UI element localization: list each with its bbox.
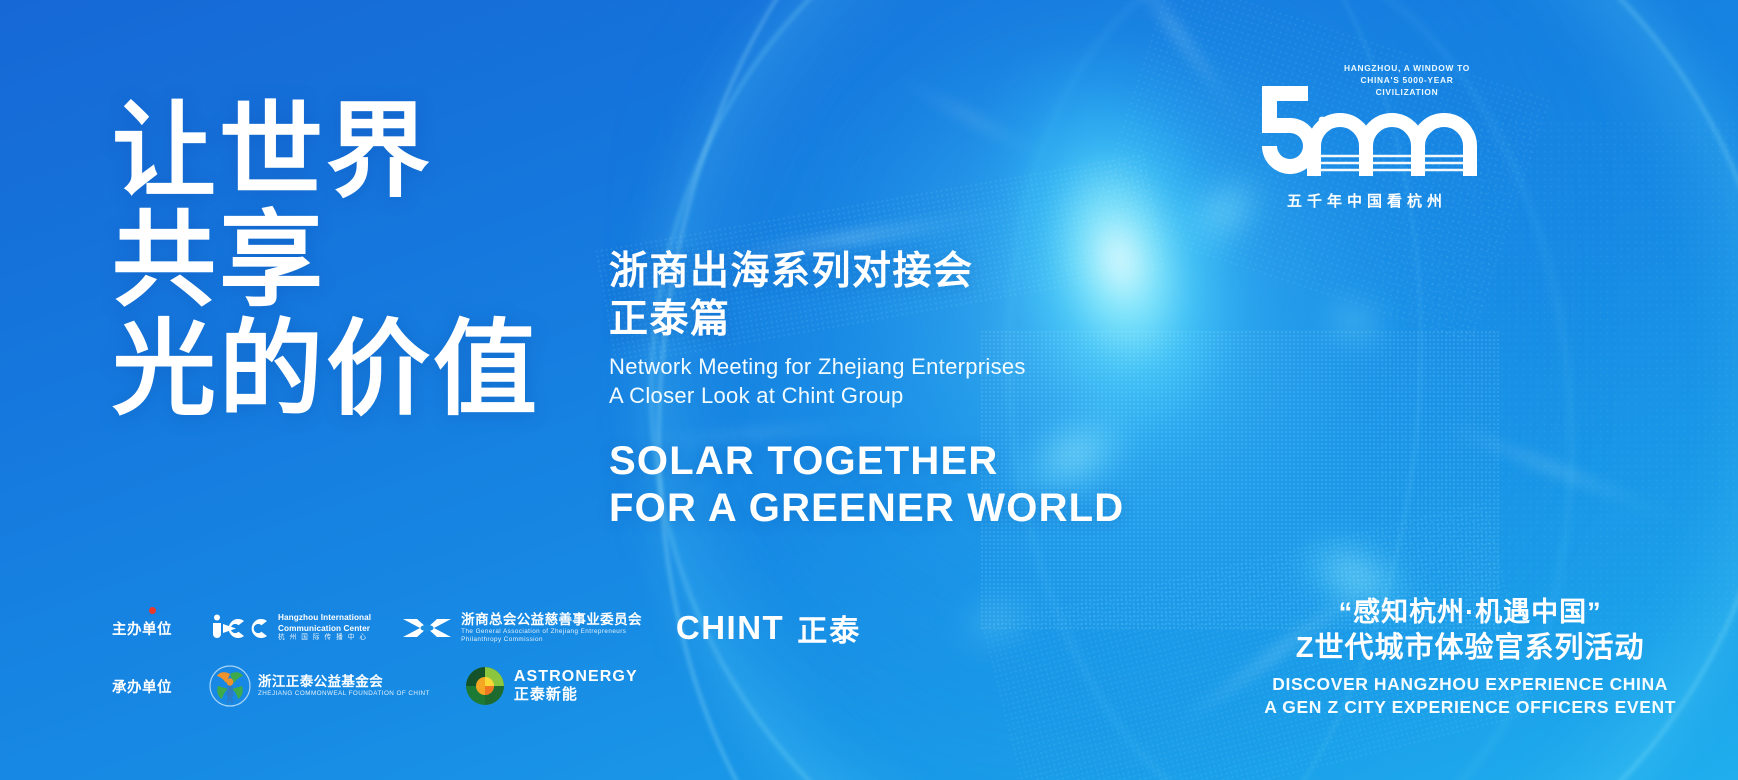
coorganizer-label: 承办单位: [112, 676, 186, 697]
astronergy-sphere-icon: [464, 665, 506, 707]
headline-line-1: 让世界: [112, 98, 540, 207]
astronergy-cn: 正泰新能: [514, 686, 638, 704]
subtitle-cn-line-1: 浙商出海系列对接会: [609, 248, 1124, 296]
coorganizer-row: 承办单位 浙江正泰公益基金会 ZHEJIANG COMMONWEAL FOUND…: [112, 664, 861, 708]
chint-cn: 正泰: [797, 606, 861, 650]
campaign-cn-line-1: “感知杭州·机遇中国”: [1264, 595, 1676, 630]
sponsor-zhejiang-entrepreneurs: 浙商总会公益慈善事业委员会 The General Association of…: [401, 612, 642, 645]
light-streak-6: [891, 73, 1070, 171]
hangzhou-5000-logo: HANGZHOU, A WINDOW TO CHINA'S 5000-YEAR …: [1252, 62, 1482, 207]
icc-en-line-2: Communication Center: [278, 624, 371, 635]
light-streak-2: [1109, 0, 1261, 146]
logo-cn-tagline: 五千年中国看杭州: [1252, 190, 1482, 211]
sponsor-chint-foundation: 浙江正泰公益基金会 ZHEJIANG COMMONWEAL FOUNDATION…: [208, 664, 430, 708]
light-streak-5: [1429, 416, 1700, 530]
logo-tagline-line-1: HANGZHOU, A WINDOW TO: [1332, 62, 1482, 74]
campaign-en-line-1: DISCOVER HANGZHOU EXPERIENCE CHINA: [1264, 673, 1676, 697]
subtitle-en-line-2: A Closer Look at Chint Group: [609, 381, 1124, 410]
zje-en-line-1: The General Association of Zhejiang Entr…: [461, 628, 642, 636]
icc-logo-icon: [208, 613, 270, 643]
chint-red-dot-icon: [149, 607, 156, 614]
chint-en: CHINT: [676, 609, 784, 647]
zje-en-line-2: Philanthropy Commission: [461, 636, 642, 644]
subtitle-block: 浙商出海系列对接会 正泰篇 Network Meeting for Zhejia…: [609, 248, 1124, 533]
headline-line-3: 光的价值: [112, 316, 540, 425]
sponsor-icc: Hangzhou International Communication Cen…: [208, 613, 371, 643]
organizer-label: 主办单位: [112, 618, 186, 639]
event-banner: 让世界 共享 光的价值 浙商出海系列对接会 正泰篇 Network Meetin…: [0, 0, 1738, 780]
sponsor-chint: CHINT 正泰: [676, 606, 861, 650]
chint-foundation-person-icon: [208, 664, 252, 708]
headline: 让世界 共享 光的价值: [112, 98, 540, 426]
astronergy-en: ASTRONERGY: [514, 668, 638, 687]
foundation-cn: 浙江正泰公益基金会: [258, 674, 430, 690]
zje-cn: 浙商总会公益慈善事业委员会: [461, 612, 642, 628]
logo-5000-numeral-icon: [1252, 80, 1482, 188]
slogan-line-1: SOLAR TOGETHER: [609, 438, 1124, 485]
icc-cn: 杭 州 国 际 传 播 中 心: [278, 634, 371, 643]
icc-en-line-1: Hangzhou International: [278, 613, 371, 624]
headline-line-2: 共享: [112, 207, 540, 316]
campaign-cn-line-2: Z世代城市体验官系列活动: [1264, 630, 1676, 667]
glow-patch-4: [1315, 292, 1394, 353]
sponsor-astronergy: ASTRONERGY 正泰新能: [464, 665, 638, 707]
slogan-line-2: FOR A GREENER WORLD: [609, 485, 1124, 532]
subtitle-cn-line-2: 正泰篇: [609, 296, 1124, 344]
foundation-en: ZHEJIANG COMMONWEAL FOUNDATION OF CHINT: [258, 690, 430, 698]
glow-patch-5: [950, 589, 1040, 656]
sponsors-section: 主办单位 Hangzhou International Communicatio…: [112, 606, 861, 708]
campaign-en-line-2: A GEN Z CITY EXPERIENCE OFFICERS EVENT: [1264, 696, 1676, 720]
organizer-row: 主办单位 Hangzhou International Communicatio…: [112, 606, 861, 650]
subtitle-en-line-1: Network Meeting for Zhejiang Enterprises: [609, 352, 1124, 381]
campaign-block: “感知杭州·机遇中国” Z世代城市体验官系列活动 DISCOVER HANGZH…: [1264, 595, 1676, 720]
zhejiang-entrepreneurs-bowtie-icon: [401, 613, 453, 643]
